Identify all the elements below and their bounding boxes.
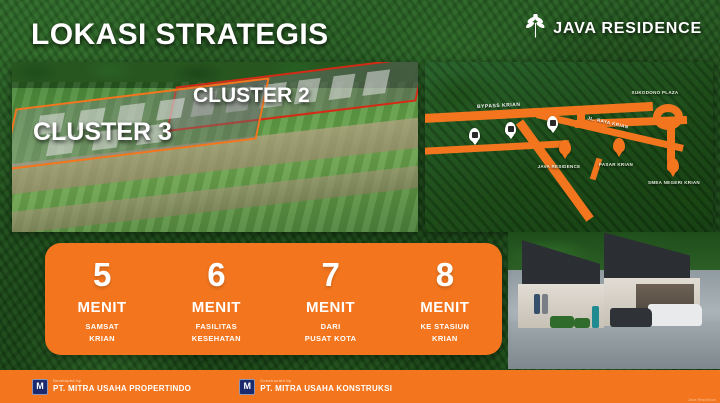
stat-item-2: 7 MENIT DARI PUSAT KOTA [274, 243, 388, 355]
stat-sub: DARI PUSAT KOTA [305, 321, 357, 344]
stat-sub-line2: KRIAN [85, 333, 119, 345]
map-pin-icon-2[interactable] [547, 116, 558, 130]
map-marker-smea[interactable] [667, 158, 679, 173]
map-place-1: JAVA RESIDENCE [533, 164, 585, 169]
stat-number: 5 [93, 258, 111, 291]
constructor-credit: M Constructed by PT. MITRA USAHA KONSTRU… [239, 379, 392, 395]
render-person-left2 [542, 294, 548, 314]
cluster-3-label: CLUSTER 3 [33, 118, 172, 147]
stat-item-3: 8 MENIT KE STASIUN KRIAN [388, 243, 502, 355]
stat-number: 6 [207, 258, 225, 291]
developer-name: PT. MITRA USAHA PROPERTINDO [53, 384, 191, 394]
stat-item-1: 6 MENIT FASILITAS KESEHATAN [159, 243, 273, 355]
stat-sub: FASILITAS KESEHATAN [192, 321, 241, 344]
stat-sub-line2: PUSAT KOTA [305, 333, 357, 345]
wheat-leaf-icon [524, 14, 546, 43]
stat-item-0: 5 MENIT SAMSAT KRIAN [45, 243, 159, 355]
stat-unit: MENIT [306, 299, 355, 316]
render-car-white [648, 304, 702, 326]
watermark: Java Residence [688, 398, 716, 402]
render-person-left [534, 294, 540, 314]
render-shrub-1 [550, 316, 574, 328]
render-person-teal [592, 306, 599, 328]
constructor-text: Constructed by PT. MITRA USAHA KONSTRUKS… [260, 379, 392, 394]
stat-unit: MENIT [420, 299, 469, 316]
render-driveway [508, 321, 720, 369]
developer-logo-icon: M [32, 379, 48, 395]
promotional-poster: CLUSTER 2 CLUSTER 3 BYPASS KRIAN JL. RAY… [0, 0, 720, 403]
constructor-name: PT. MITRA USAHA KONSTRUKSI [260, 384, 392, 394]
road-diagonal [516, 119, 594, 221]
page-title: LOKASI STRATEGIS [31, 18, 329, 52]
map-pin-icon-0[interactable] [469, 128, 480, 142]
render-car-dark [610, 308, 652, 327]
stat-number: 8 [436, 258, 454, 291]
location-map: BYPASS KRIAN JL. RAYA KRIAN SUKODONO PLA… [425, 62, 713, 232]
map-marker-java-residence[interactable] [559, 140, 571, 155]
road-roundabout [653, 104, 683, 130]
stat-sub-line2: KESEHATAN [192, 333, 241, 345]
stat-number: 7 [321, 258, 339, 291]
map-place-0: SUKODONO PLAZA [631, 90, 679, 95]
render-shrub-2 [574, 318, 590, 328]
house-render-photo [508, 232, 720, 369]
brand-logo: JAVA RESIDENCE [524, 14, 702, 43]
footer-bar: M Developed by PT. MITRA USAHA PROPERTIN… [0, 370, 720, 403]
developer-credit: M Developed by PT. MITRA USAHA PROPERTIN… [32, 379, 191, 395]
map-marker-pasar-krian[interactable] [613, 138, 625, 153]
stat-unit: MENIT [78, 299, 127, 316]
stat-sub: KE STASIUN KRIAN [420, 321, 469, 344]
map-pin-icon-1[interactable] [505, 122, 516, 136]
stat-sub: SAMSAT KRIAN [85, 321, 119, 344]
stat-sub-line1: DARI [305, 321, 357, 333]
map-place-2: PASAR KRIAN [591, 162, 641, 167]
stats-panel: 5 MENIT SAMSAT KRIAN 6 MENIT FASILITAS K… [45, 243, 502, 355]
constructor-logo-icon: M [239, 379, 255, 395]
stat-sub-line1: KE STASIUN [420, 321, 469, 333]
stat-unit: MENIT [192, 299, 241, 316]
map-place-3: SMEA NEGERI KRIAN [647, 180, 701, 185]
stat-sub-line1: SAMSAT [85, 321, 119, 333]
brand-name: JAVA RESIDENCE [553, 20, 702, 38]
stat-sub-line2: KRIAN [420, 333, 469, 345]
stat-sub-line1: FASILITAS [192, 321, 241, 333]
developer-text: Developed by PT. MITRA USAHA PROPERTINDO [53, 379, 191, 394]
cluster-2-label: CLUSTER 2 [193, 84, 310, 108]
